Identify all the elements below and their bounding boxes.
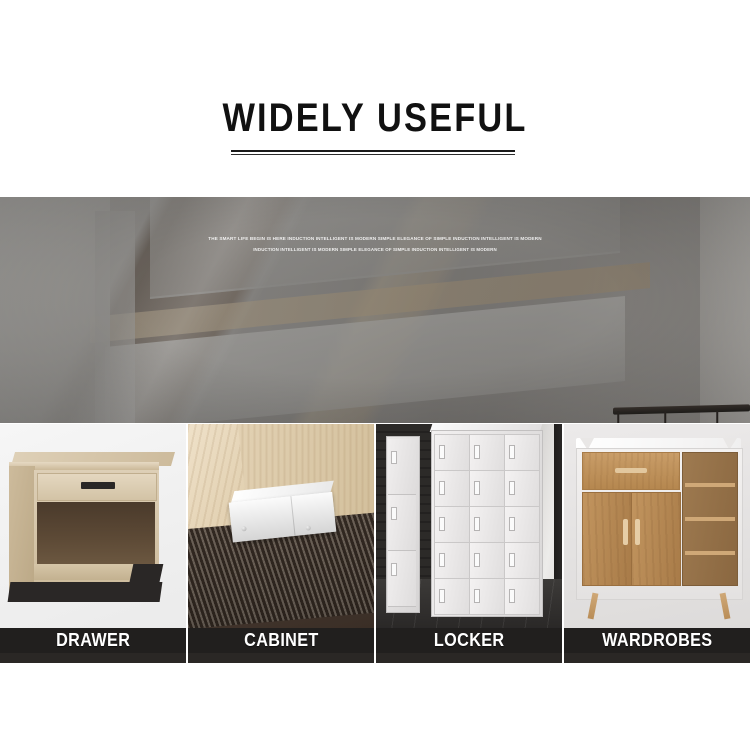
locker-door [469,470,505,507]
locker-door [504,506,540,543]
locker-door [469,578,505,615]
locker-handle-icon [439,553,445,567]
application-panel-drawer[interactable]: DRAWER [0,424,188,663]
panel-foot-cabinet [188,653,374,663]
wardrobe-drawer-handle-icon [615,468,647,473]
panel-label-bar-wardrobes: WARDROBES [564,628,750,653]
title-divider-line-top [231,150,515,152]
panel-label-cabinet: CABINET [244,630,319,651]
wardrobe-shelf [685,483,735,487]
application-panel-wardrobes[interactable]: WARDROBES [564,424,750,663]
wardrobe-door-handle-icon [623,519,628,545]
locker-door [469,434,505,471]
locker-handle-icon [391,451,397,464]
locker-handle-icon [509,589,515,603]
drawer-photo [0,424,186,628]
locker-door [504,470,540,507]
locker-handle-icon [474,445,480,459]
locker-door [469,506,505,543]
title-divider-line-bottom [231,154,515,155]
locker-door [434,434,470,471]
nightstand-side [9,466,35,594]
locker-door [504,434,540,471]
drawer-handle-icon [81,482,115,489]
page-title: WIDELY USEFUL [53,96,698,141]
locker-door [388,439,416,495]
wardrobe-illustration [576,438,741,613]
locker-photo [376,424,562,628]
locker-door [388,551,416,607]
locker-handle-icon [474,553,480,567]
locker-door [469,542,505,579]
wardrobe-door-handle-icon [635,519,640,545]
panel-label-locker: LOCKER [434,630,505,651]
panel-label-drawer: DRAWER [56,630,130,651]
locker-handle-icon [391,563,397,576]
locker-door [388,495,416,551]
locker-handle-icon [509,481,515,495]
hero-banner: THE SMART LIFE BEGIN IS HERE INDUCTION I… [0,197,750,423]
panel-label-bar-cabinet: CABINET [188,628,374,653]
application-panel-locker[interactable]: LOCKER [376,424,564,663]
locker-handle-icon [474,589,480,603]
wardrobe-open-shelves [682,452,738,586]
wardrobes-photo [564,424,750,628]
locker-door [434,506,470,543]
locker-door [504,542,540,579]
locker-door [434,542,470,579]
locker-door [434,470,470,507]
nightstand-illustration [9,452,174,607]
panel-foot-wardrobes [564,653,750,663]
locker-handle-icon [439,517,445,531]
locker-handle-icon [391,507,397,520]
nightstand-base [8,582,163,602]
locker-door [434,578,470,615]
panel-foot-drawer [0,653,186,663]
locker-handle-icon [509,445,515,459]
panel-label-wardrobes: WARDROBES [602,630,712,651]
locker-handle-icon [439,445,445,459]
panel-label-bar-locker: LOCKER [376,628,562,653]
panel-foot-locker [376,653,562,663]
nightstand-open-shelf [37,502,155,564]
application-panel-row: DRAWER CABINET [0,424,750,663]
locker-handle-icon [509,517,515,531]
wardrobe-door-left [582,492,632,586]
wardrobe-drawer [582,452,680,490]
locker-handle-icon [509,553,515,567]
wardrobe-shelf [685,517,735,521]
locker-handle-icon [474,481,480,495]
locker-handle-icon [439,589,445,603]
panel-label-bar-drawer: DRAWER [0,628,186,653]
locker-main-unit [431,430,543,617]
locker-handle-icon [474,517,480,531]
application-panel-cabinet[interactable]: CABINET [188,424,376,663]
title-divider [231,150,515,156]
locker-handle-icon [439,481,445,495]
hero-vignette [0,197,750,423]
cabinet-photo [188,424,374,628]
wardrobe-door-right [631,492,681,586]
wardrobe-shelf [685,551,735,555]
locker-door [504,578,540,615]
locker-tall-unit [386,436,420,613]
